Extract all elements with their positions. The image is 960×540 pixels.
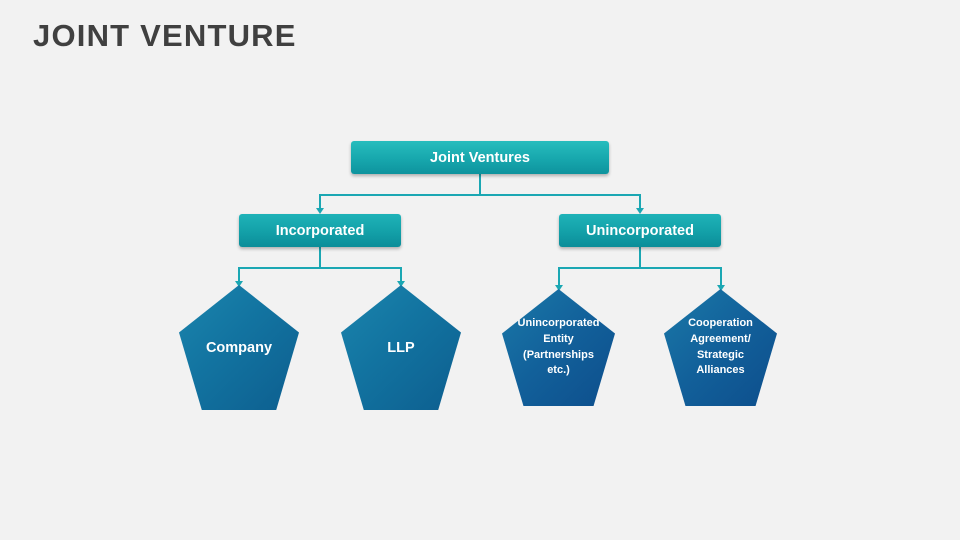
connector-unincorporated-entity-drop [558,267,560,285]
connector-unincorporated-bus [558,267,721,269]
node-company[interactable]: Company [179,285,299,410]
node-joint-ventures-label: Joint Ventures [430,150,530,166]
connector-level2-bus [319,194,640,196]
connector-incorporated-down [319,247,321,268]
connector-unincorporated-drop [639,194,641,208]
node-joint-ventures[interactable]: Joint Ventures [351,141,609,174]
node-unincorporated-label: Unincorporated [586,223,694,239]
node-unincorporated-entity[interactable]: Unincorporated Entity (Partnerships etc.… [502,289,615,406]
connector-company-drop [238,267,240,281]
node-company-label: Company [194,340,284,356]
slide: Joint Venture Joint Ventures Incorporate… [0,0,960,540]
connector-incorporated-bus [238,267,401,269]
node-unincorporated[interactable]: Unincorporated [559,214,721,247]
connector-unincorporated-down [639,247,641,268]
connector-cooperation-agreement-drop [720,267,722,285]
node-llp-label: LLP [375,340,426,356]
node-cooperation-agreement[interactable]: Cooperation Agreement/ Strategic Allianc… [664,289,777,406]
node-cooperation-agreement-label: Cooperation Agreement/ Strategic Allianc… [664,316,777,380]
node-incorporated[interactable]: Incorporated [239,214,401,247]
connector-incorporated-drop [319,194,321,208]
connector-root-down [479,174,481,195]
node-llp[interactable]: LLP [341,285,461,410]
page-title: Joint Venture [33,18,297,54]
node-unincorporated-entity-label: Unincorporated Entity (Partnerships etc.… [502,316,615,380]
connector-llp-drop [400,267,402,281]
node-incorporated-label: Incorporated [276,223,365,239]
